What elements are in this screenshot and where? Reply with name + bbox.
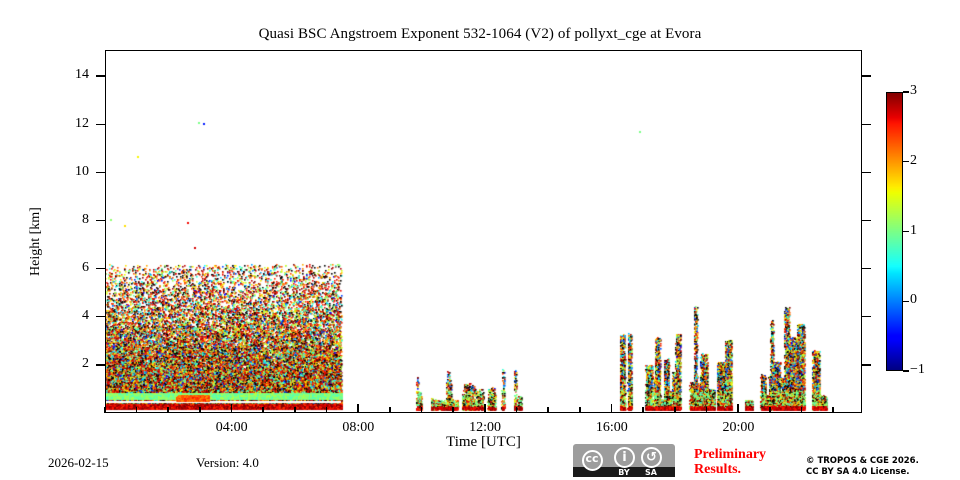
colorbar-tick	[903, 231, 909, 232]
cc-sa-glyph: ↺	[643, 450, 660, 466]
x-minor-tick	[706, 407, 708, 413]
x-minor-tick	[199, 407, 201, 413]
y-tick-mark-right	[862, 124, 871, 126]
y-tick-label-4: 4	[43, 308, 89, 324]
x-minor-tick	[832, 407, 834, 413]
y-tick-label-14: 14	[43, 67, 89, 83]
preliminary-notice: Preliminary Results.	[694, 447, 766, 477]
cc-by-glyph: i	[616, 450, 633, 466]
y-tick-label-2: 2	[43, 356, 89, 372]
y-tick-mark	[96, 172, 105, 174]
x-minor-tick	[769, 407, 771, 413]
copyright-line-1: © TROPOS & CGE 2026.	[806, 456, 919, 467]
x-tick-mark	[737, 404, 739, 413]
x-tick-mark	[484, 404, 486, 413]
x-minor-tick	[167, 407, 169, 413]
colorbar-label-3: 2	[910, 153, 917, 169]
x-minor-tick	[389, 407, 391, 413]
cc-by-icon: i	[614, 447, 635, 468]
cc-license-badge[interactable]: cc i ↺ BY SA	[573, 444, 675, 477]
x-minor-tick	[579, 407, 581, 413]
software-version: Version: 4.0	[196, 455, 259, 471]
copyright-line-2: CC BY SA 4.0 License.	[806, 467, 919, 478]
cc-sa-label: SA	[639, 468, 663, 477]
cc-by-label: BY	[612, 468, 636, 477]
x-minor-tick	[104, 407, 106, 413]
colorbar-label-2: 1	[910, 223, 917, 239]
x-minor-tick	[421, 407, 423, 413]
colorbar-label-4: 3	[910, 83, 917, 99]
preliminary-line-2: Results.	[694, 462, 766, 477]
preliminary-line-1: Preliminary	[694, 447, 766, 462]
x-tick-mark	[357, 404, 359, 413]
y-tick-mark-right	[862, 316, 871, 318]
scatter-plot-canvas	[105, 50, 862, 413]
cc-text: cc	[583, 452, 601, 465]
x-minor-tick	[294, 407, 296, 413]
copyright-notice: © TROPOS & CGE 2026. CC BY SA 4.0 Licens…	[806, 456, 919, 478]
y-tick-mark-right	[862, 268, 871, 270]
colorbar-frame	[886, 92, 903, 371]
colorbar-tick	[903, 91, 909, 92]
y-tick-mark-right	[862, 172, 871, 174]
figure-date: 2026-02-15	[48, 455, 109, 471]
colorbar-tick	[903, 301, 909, 302]
y-tick-mark-right	[862, 364, 871, 366]
colorbar-tick	[903, 370, 909, 371]
colorbar-label-1: 0	[910, 292, 917, 308]
x-minor-tick	[801, 407, 803, 413]
x-minor-tick	[326, 407, 328, 413]
x-minor-tick	[674, 407, 676, 413]
y-tick-mark-right	[862, 220, 871, 222]
y-tick-mark	[96, 316, 105, 318]
y-tick-mark	[96, 364, 105, 366]
y-tick-label-12: 12	[43, 116, 89, 132]
colorbar-label-0: −1	[910, 362, 925, 378]
y-axis-label: Height [km]	[28, 207, 44, 276]
x-minor-tick	[642, 407, 644, 413]
lidar-quicklook-figure: Quasi BSC Angstroem Exponent 532-1064 (V…	[0, 0, 960, 480]
x-minor-tick	[262, 407, 264, 413]
y-tick-mark-right	[862, 75, 871, 77]
x-tick-mark	[611, 404, 613, 413]
page-title: Quasi BSC Angstroem Exponent 532-1064 (V…	[0, 26, 960, 43]
y-tick-label-10: 10	[43, 164, 89, 180]
y-tick-label-8: 8	[43, 212, 89, 228]
y-tick-mark	[96, 220, 105, 222]
cc-sa-icon: ↺	[641, 447, 662, 468]
y-tick-label-6: 6	[43, 260, 89, 276]
x-minor-tick	[136, 407, 138, 413]
y-tick-mark	[96, 75, 105, 77]
colorbar-tick	[903, 161, 909, 162]
y-tick-mark	[96, 124, 105, 126]
x-minor-tick	[516, 407, 518, 413]
x-tick-mark	[231, 404, 233, 413]
x-minor-tick	[452, 407, 454, 413]
y-tick-mark	[96, 268, 105, 270]
x-minor-tick	[547, 407, 549, 413]
